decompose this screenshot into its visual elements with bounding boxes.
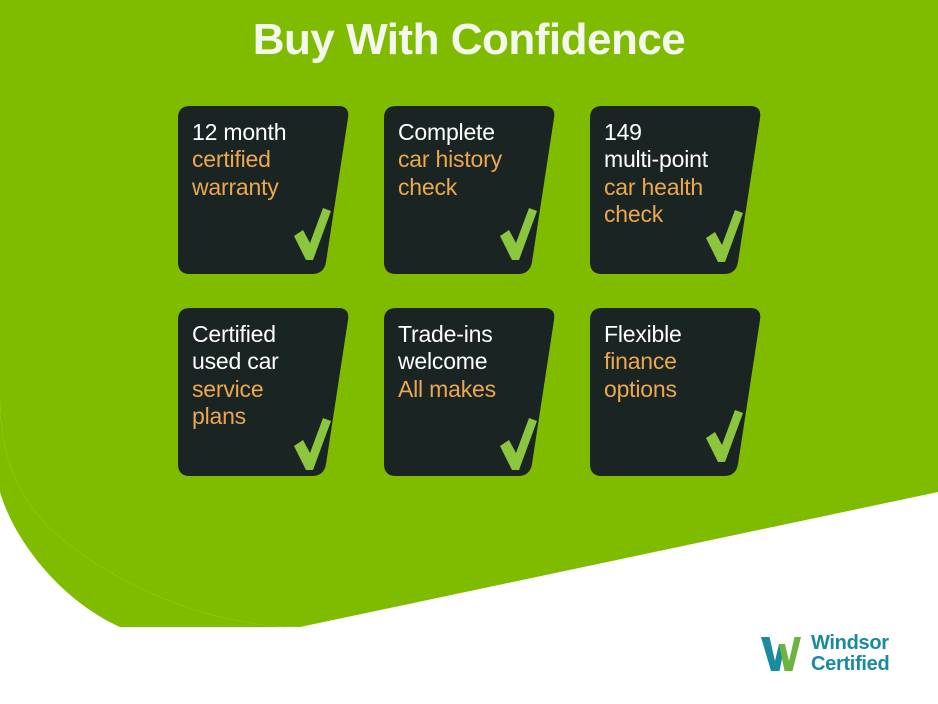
benefit-card-flexible-finance[interactable]: Flexible finance options	[590, 308, 762, 476]
benefit-card-service-plans[interactable]: Certified used car service plans	[178, 308, 350, 476]
card-line-white-0: Certified	[192, 321, 338, 348]
card-line-white-0: 149	[604, 119, 750, 146]
check-icon	[292, 208, 332, 260]
check-icon	[704, 210, 744, 262]
card-line-white-0: Trade-ins	[398, 321, 544, 348]
card-text-block: Trade-ins welcome All makes	[398, 321, 544, 403]
card-line-orange-0: car history	[398, 146, 544, 173]
card-line-white-1: used car	[192, 348, 338, 375]
card-text-block: Flexible finance options	[604, 321, 750, 403]
benefit-card-trade-ins[interactable]: Trade-ins welcome All makes	[384, 308, 556, 476]
check-icon	[704, 410, 744, 462]
card-line-white-0: Flexible	[604, 321, 750, 348]
card-line-orange-0: All makes	[398, 376, 544, 403]
card-text-block: Complete car history check	[398, 119, 544, 201]
benefit-card-certified-warranty[interactable]: 12 month certified warranty	[178, 106, 350, 274]
benefit-card-car-history-check[interactable]: Complete car history check	[384, 106, 556, 274]
card-line-white-1: multi-point	[604, 146, 750, 173]
logo-line-1: Windsor	[811, 633, 889, 654]
card-text-block: 12 month certified warranty	[192, 119, 338, 201]
windsor-certified-logo[interactable]: Windsor Certified	[760, 628, 925, 680]
card-line-white-1: welcome	[398, 348, 544, 375]
poster-canvas: Buy With Confidence 12 month certified w…	[0, 0, 938, 704]
card-line-orange-0: certified	[192, 146, 338, 173]
card-line-white-0: 12 month	[192, 119, 338, 146]
card-line-orange-1: check	[398, 174, 544, 201]
card-line-orange-0: service	[192, 376, 338, 403]
card-line-orange-1: warranty	[192, 174, 338, 201]
check-icon	[292, 418, 332, 470]
check-icon	[498, 208, 538, 260]
card-text-block: Certified used car service plans	[192, 321, 338, 430]
logo-wordmark: Windsor Certified	[811, 633, 889, 675]
card-line-orange-0: finance	[604, 348, 750, 375]
check-icon	[498, 418, 538, 470]
benefit-card-car-health-check[interactable]: 149 multi-point car health check	[590, 106, 762, 274]
logo-line-2: Certified	[811, 654, 889, 675]
benefit-card-grid: 12 month certified warranty Complete car…	[178, 106, 756, 476]
card-line-orange-1: options	[604, 376, 750, 403]
page-title: Buy With Confidence	[0, 16, 938, 64]
card-line-orange-0: car health	[604, 174, 750, 201]
card-line-white-0: Complete	[398, 119, 544, 146]
windsor-w-icon	[760, 634, 802, 674]
